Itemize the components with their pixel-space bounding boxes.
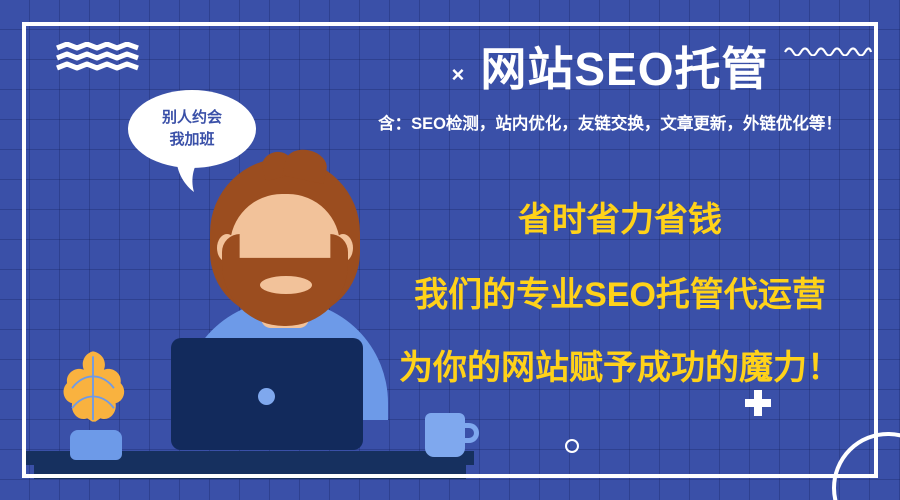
poster-frame-border [22, 22, 878, 478]
seo-promo-poster: × 网站SEO托管 含：SEO检测，站内优化，友链交换，文章更新，外链优化等！ … [0, 0, 900, 500]
